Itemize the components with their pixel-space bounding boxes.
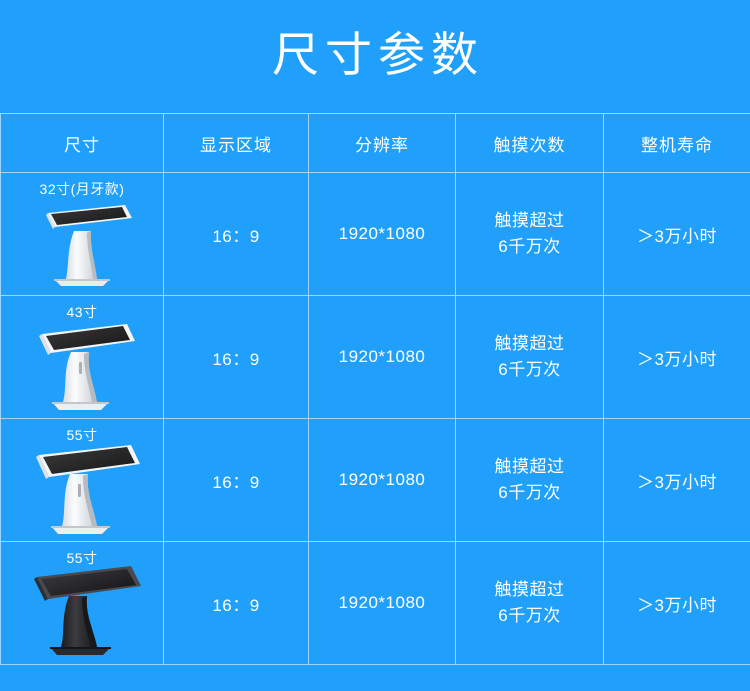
- column-header-display-area: 显示区域: [164, 114, 309, 173]
- column-header-size: 尺寸: [1, 114, 164, 173]
- table-row: 32寸(月牙款): [1, 173, 750, 296]
- size-cell: 32寸(月牙款): [1, 173, 164, 296]
- kiosk-image-white-43: [17, 314, 147, 414]
- display-area-value: 16：9: [164, 296, 309, 419]
- display-area-value: 16：9: [164, 419, 309, 542]
- kiosk-image-white-55: [17, 437, 147, 537]
- lifetime-value: ＞3万小时: [604, 419, 750, 542]
- touch-count-line-1: 触摸超过: [456, 454, 603, 480]
- kiosk-image-black-55: [17, 560, 147, 660]
- touch-count-value: 触摸超过 6千万次: [456, 173, 604, 296]
- display-area-value: 16：9: [164, 173, 309, 296]
- touch-count-value: 触摸超过 6千万次: [456, 419, 604, 542]
- size-cell: 55寸: [1, 419, 164, 542]
- page-title: 尺寸参数: [266, 31, 484, 78]
- resolution-value: 1920*1080: [309, 542, 456, 665]
- size-label: 55寸: [1, 425, 163, 445]
- lifetime-value: ＞3万小时: [604, 296, 750, 419]
- table-row: 55寸: [1, 419, 750, 542]
- touch-count-line-1: 触摸超过: [456, 331, 603, 357]
- touch-count-line-1: 触摸超过: [456, 577, 603, 603]
- touch-count-line-2: 6千万次: [456, 480, 603, 506]
- touch-count-line-2: 6千万次: [456, 234, 603, 260]
- table-row: 55寸: [1, 542, 750, 665]
- size-label: 32寸(月牙款): [1, 179, 163, 199]
- spec-sheet-page: 尺寸参数 尺寸 显示区域 分辨率 触摸次数 整机寿命 32寸(月牙款): [0, 0, 750, 691]
- touch-count-value: 触摸超过 6千万次: [456, 296, 604, 419]
- column-header-touch-count: 触摸次数: [456, 114, 604, 173]
- table-header-row: 尺寸 显示区域 分辨率 触摸次数 整机寿命: [1, 114, 750, 173]
- page-title-bar: 尺寸参数: [0, 0, 750, 113]
- touch-count-value: 触摸超过 6千万次: [456, 542, 604, 665]
- lifetime-value: ＞3万小时: [604, 542, 750, 665]
- touch-count-line-1: 触摸超过: [456, 208, 603, 234]
- column-header-resolution: 分辨率: [309, 114, 456, 173]
- touch-count-line-2: 6千万次: [456, 603, 603, 629]
- size-label: 55寸: [1, 548, 163, 568]
- column-header-lifetime: 整机寿命: [604, 114, 750, 173]
- table-row: 43寸: [1, 296, 750, 419]
- resolution-value: 1920*1080: [309, 173, 456, 296]
- lifetime-value: ＞3万小时: [604, 173, 750, 296]
- resolution-value: 1920*1080: [309, 296, 456, 419]
- size-label: 43寸: [1, 302, 163, 322]
- specification-table: 尺寸 显示区域 分辨率 触摸次数 整机寿命 32寸(月牙款): [0, 113, 750, 665]
- touch-count-line-2: 6千万次: [456, 357, 603, 383]
- size-cell: 55寸: [1, 542, 164, 665]
- kiosk-image-white-32: [17, 191, 147, 291]
- resolution-value: 1920*1080: [309, 419, 456, 542]
- display-area-value: 16：9: [164, 542, 309, 665]
- size-cell: 43寸: [1, 296, 164, 419]
- footer-spacer: [0, 665, 750, 691]
